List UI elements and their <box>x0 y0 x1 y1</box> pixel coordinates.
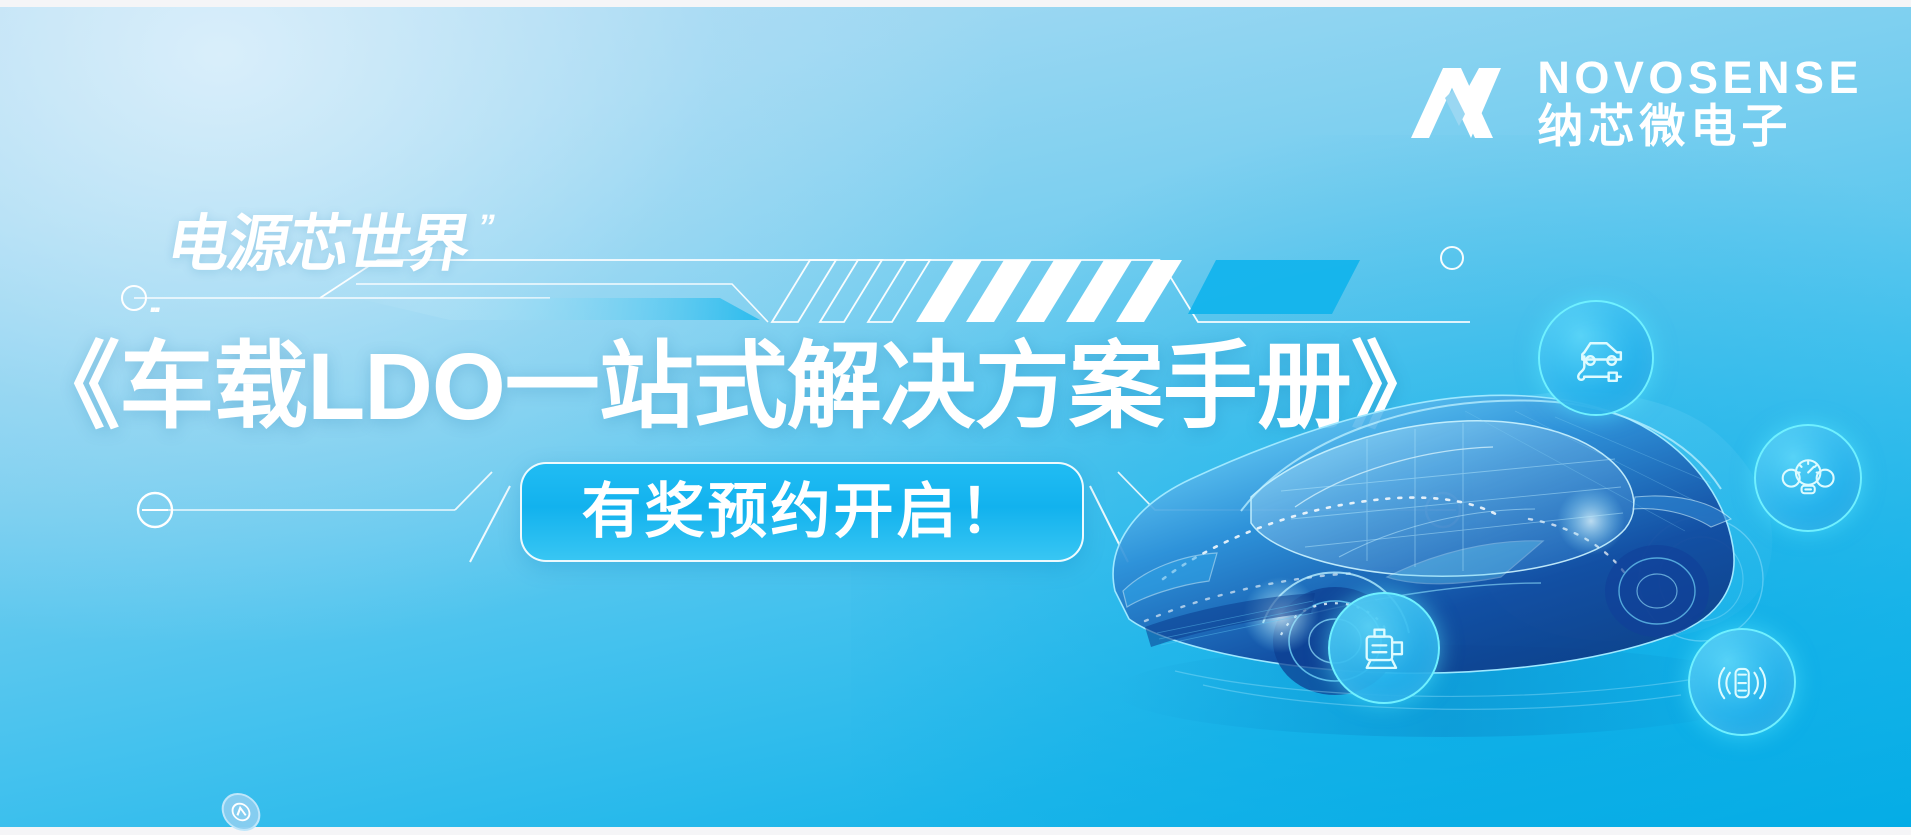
cta-pill-row: 有奖预约开启！ <box>0 462 1470 572</box>
adas-radar-icon[interactable] <box>1688 628 1796 736</box>
logo-text-block: NOVOSENSE 纳芯微电子 <box>1537 55 1863 150</box>
subbrand-lockup: 电源芯世界 <box>163 214 474 276</box>
logo-chinese-name: 纳芯微电子 <box>1537 102 1863 150</box>
logo-english-name: NOVOSENSE <box>1537 55 1863 100</box>
novosense-logo[interactable]: NOVOSENSE 纳芯微电子 <box>1409 55 1863 150</box>
novosense-n-badge-icon <box>219 793 264 831</box>
electric-motor-icon[interactable] <box>1328 592 1440 704</box>
page-title: 《车载LDO一站式解决方案手册》 <box>0 340 1470 435</box>
cta-pill-label: 有奖预约开启！ <box>582 482 1023 542</box>
ev-charging-icon[interactable] <box>1538 300 1654 416</box>
instrument-cluster-icon[interactable] <box>1754 424 1862 532</box>
bottom-white-strip <box>0 827 1911 835</box>
subbrand-title: 电源芯世界 <box>163 214 474 276</box>
novosense-n-mark-icon <box>1409 64 1517 142</box>
cta-pill[interactable]: 有奖预约开启！ <box>520 462 1084 562</box>
promo-banner: NOVOSENSE 纳芯微电子 .. 电源芯世界 ” 《车载LDO一站式解决方案… <box>0 0 1911 835</box>
top-white-strip <box>0 0 1911 7</box>
